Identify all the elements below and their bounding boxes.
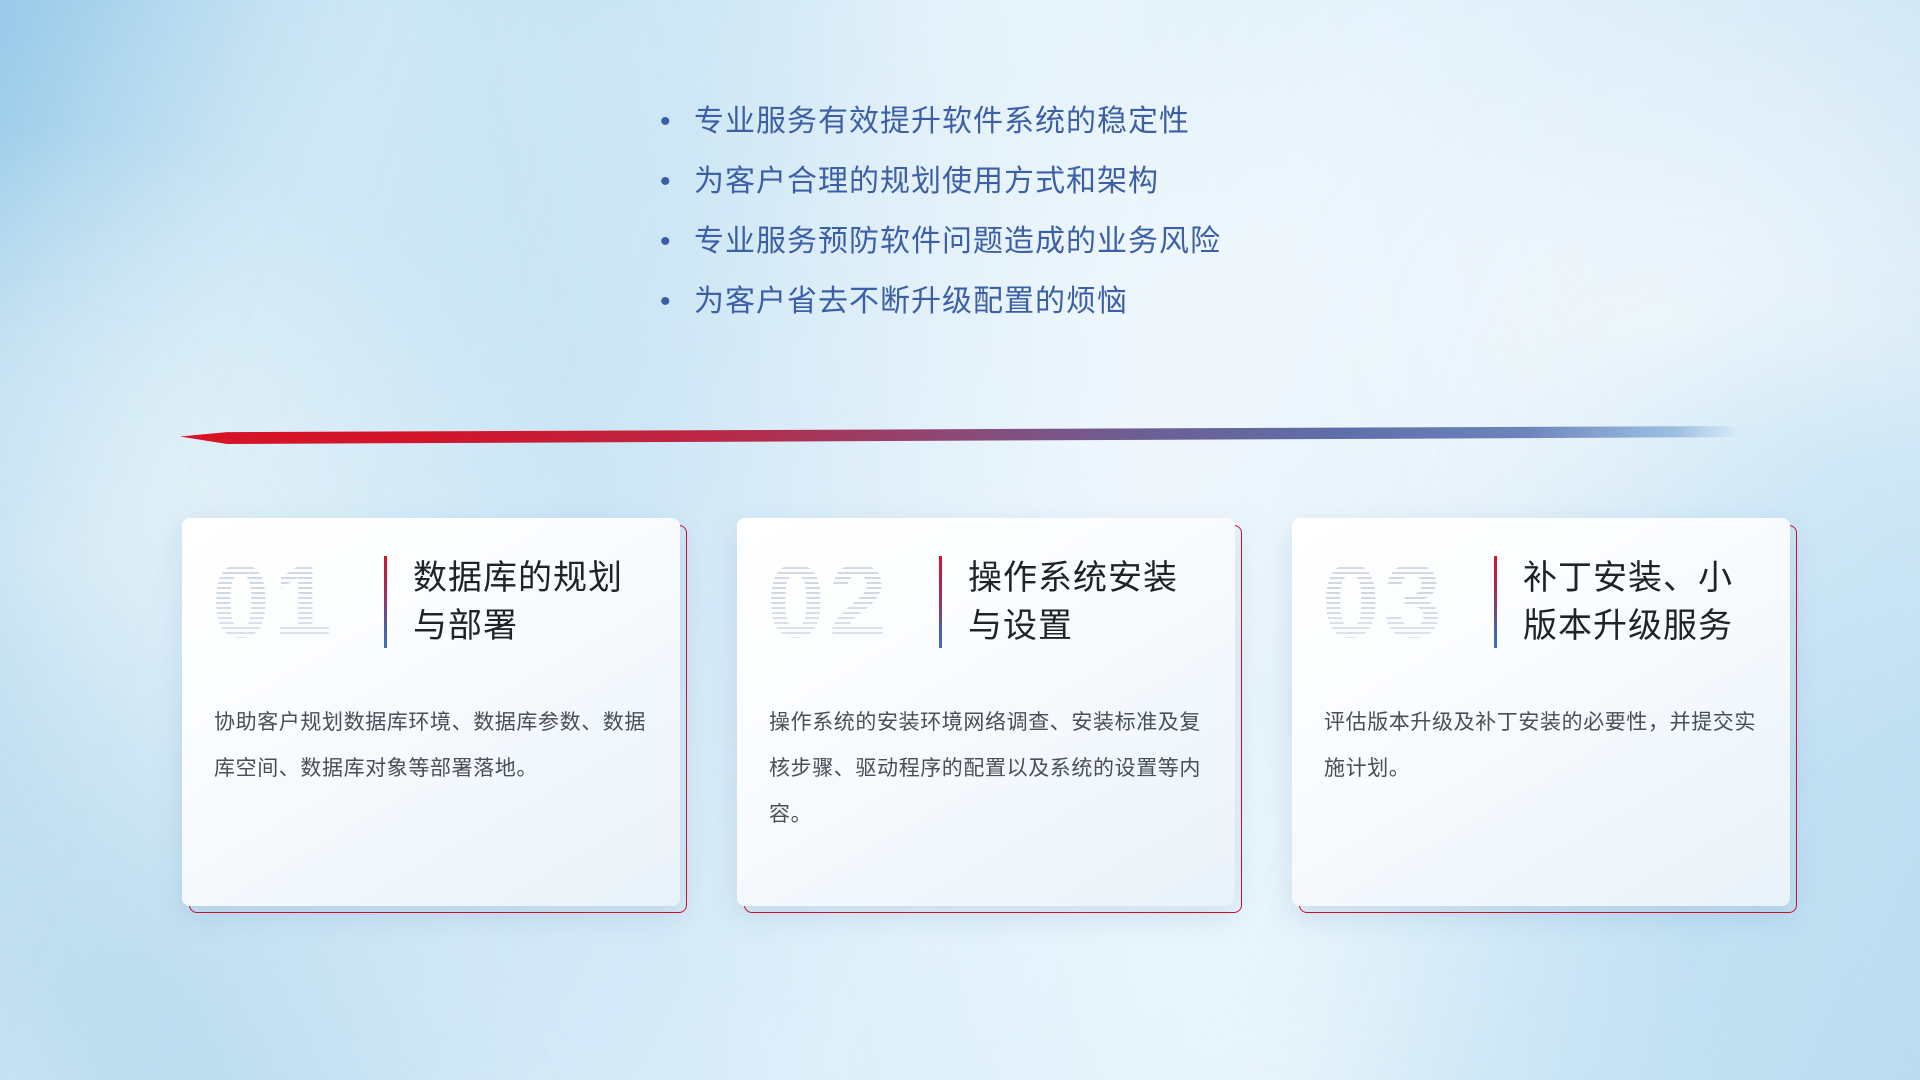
service-card-02[interactable]: 02 操作系统安装与设置 操作系统的安装环境网络调查、安装标准及复核步骤、驱动程… (737, 518, 1235, 906)
section-divider (180, 426, 1740, 444)
bullet-text: 为客户合理的规划使用方式和架构 (694, 164, 1159, 200)
card-surface: 02 操作系统安装与设置 操作系统的安装环境网络调查、安装标准及复核步骤、驱动程… (737, 518, 1235, 906)
card-surface: 01 数据库的规划与部署 协助客户规划数据库环境、数据库参数、数据库空间、数据库… (182, 518, 680, 906)
list-item: • 为客户合理的规划使用方式和架构 (660, 164, 1500, 200)
card-number-watermark: 01 (212, 547, 380, 657)
service-card-01[interactable]: 01 数据库的规划与部署 协助客户规划数据库环境、数据库参数、数据库空间、数据库… (182, 518, 680, 906)
list-item: • 专业服务有效提升软件系统的稳定性 (660, 104, 1500, 140)
card-accent-bar (939, 556, 942, 648)
bullet-text: 专业服务预防软件问题造成的业务风险 (694, 224, 1221, 260)
service-card-03[interactable]: 03 补丁安装、小版本升级服务 评估版本升级及补丁安装的必要性，并提交实施计划。 (1292, 518, 1790, 906)
bullet-dot-icon: • (660, 224, 694, 260)
gradient-divider-bar (180, 426, 1740, 444)
bullet-dot-icon: • (660, 164, 694, 200)
card-header: 01 数据库的规划与部署 (182, 518, 680, 686)
list-item: • 为客户省去不断升级配置的烦恼 (660, 284, 1500, 320)
slide-root: • 专业服务有效提升软件系统的稳定性 • 为客户合理的规划使用方式和架构 • 专… (0, 0, 1920, 1080)
card-surface: 03 补丁安装、小版本升级服务 评估版本升级及补丁安装的必要性，并提交实施计划。 (1292, 518, 1790, 906)
bullet-dot-icon: • (660, 104, 694, 140)
card-title: 操作系统安装与设置 (968, 554, 1209, 650)
card-header: 03 补丁安装、小版本升级服务 (1292, 518, 1790, 686)
card-accent-bar (1494, 556, 1497, 648)
bullet-text: 为客户省去不断升级配置的烦恼 (694, 284, 1128, 320)
card-number-watermark: 02 (767, 547, 935, 657)
benefits-bullet-list: • 专业服务有效提升软件系统的稳定性 • 为客户合理的规划使用方式和架构 • 专… (660, 104, 1500, 344)
card-title: 补丁安装、小版本升级服务 (1523, 554, 1764, 650)
card-title: 数据库的规划与部署 (413, 554, 654, 650)
bullet-dot-icon: • (660, 284, 694, 320)
card-body-text: 操作系统的安装环境网络调查、安装标准及复核步骤、驱动程序的配置以及系统的设置等内… (737, 686, 1235, 838)
card-accent-bar (384, 556, 387, 648)
bullet-text: 专业服务有效提升软件系统的稳定性 (694, 104, 1190, 140)
card-header: 02 操作系统安装与设置 (737, 518, 1235, 686)
list-item: • 专业服务预防软件问题造成的业务风险 (660, 224, 1500, 260)
card-body-text: 协助客户规划数据库环境、数据库参数、数据库空间、数据库对象等部署落地。 (182, 686, 680, 792)
card-number-watermark: 03 (1322, 547, 1490, 657)
service-card-row: 01 数据库的规划与部署 协助客户规划数据库环境、数据库参数、数据库空间、数据库… (182, 518, 1792, 906)
card-body-text: 评估版本升级及补丁安装的必要性，并提交实施计划。 (1292, 686, 1790, 792)
